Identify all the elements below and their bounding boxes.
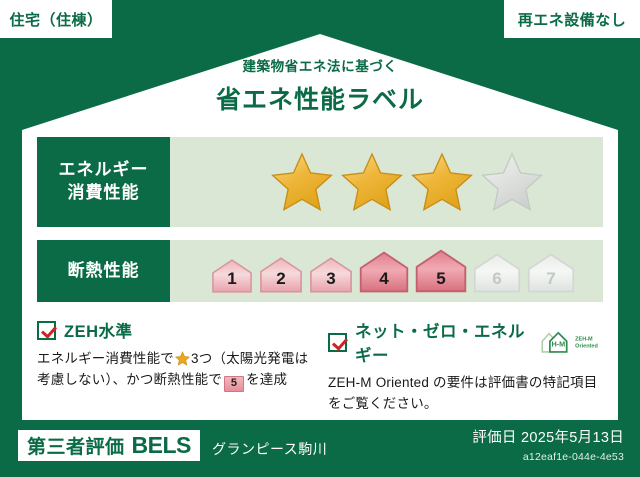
note-zeh-title: ZEH水準 — [64, 318, 133, 342]
tag-building-type: 住宅（住棟） — [0, 0, 112, 38]
star-rating — [270, 151, 544, 213]
svg-text:H-M: H-M — [551, 340, 565, 349]
insulation-level-7: 7 — [526, 252, 576, 294]
note-zeh-header: ZEH水準 — [37, 318, 312, 342]
insulation-level-4: 4 — [358, 250, 410, 294]
bels-energy-label: 住宅（住棟） 再エネ設備なし 建築物省エネ法に基づく 省エネ性能ラベル エネルギ… — [0, 0, 640, 477]
evaluation-info: 評価日 2025年5月13日 a12eaf1e-044e-4e53 — [472, 426, 624, 463]
note-zeh-standard: ZEH水準 エネルギー消費性能で3つ（太陽光発電は考慮しない）、かつ断熱性能で5… — [37, 318, 312, 415]
evaluation-date: 評価日 2025年5月13日 — [472, 426, 624, 447]
inline-star-icon — [175, 351, 190, 366]
evaluation-id: a12eaf1e-044e-4e53 — [472, 451, 624, 463]
bels-badge: 第三者評価 BELS — [18, 430, 200, 461]
insulation-level-number: 7 — [526, 269, 576, 289]
insulation-level-number: 2 — [258, 269, 304, 289]
zeh-m-caption: ZEH-M Oriented — [575, 333, 603, 351]
note-nze-body: ZEH-M Oriented の要件は評価書の特記項目をご覧ください。 — [328, 373, 603, 415]
energy-performance-label: エネルギー 消費性能 — [37, 137, 170, 227]
note-net-zero-energy: ネット・ゼロ・エネルギー H-M ZEH-M Oriented ZEH-M Or… — [328, 318, 603, 415]
checkbox-checked-icon — [328, 333, 347, 352]
note-zeh-text-3: を達成 — [246, 372, 287, 387]
insulation-label-text: 断熱性能 — [68, 260, 140, 283]
insulation-performance-body: 1234567 — [170, 240, 603, 302]
insulation-level-2: 2 — [258, 256, 304, 294]
insulation-level-5: 5 — [414, 248, 468, 294]
insulation-level-number: 5 — [414, 269, 468, 289]
note-nze-title: ネット・ゼロ・エネルギー — [355, 318, 526, 366]
checkbox-checked-icon — [37, 321, 56, 340]
insulation-level-6: 6 — [472, 252, 522, 294]
zeh-m-caption-line1: ZEH-M — [575, 337, 593, 343]
inline-level-badge: 5 — [224, 376, 244, 392]
insulation-level-number: 6 — [472, 269, 522, 289]
title-subtitle: 建築物省エネ法に基づく — [0, 55, 640, 75]
insulation-level-number: 4 — [358, 269, 410, 289]
label-title: 建築物省エネ法に基づく 省エネ性能ラベル — [0, 55, 640, 116]
star-filled-icon — [340, 151, 404, 213]
tag-renewable-equipment: 再エネ設備なし — [504, 0, 640, 38]
star-filled-icon — [270, 151, 334, 213]
insulation-performance-label: 断熱性能 — [37, 240, 170, 302]
energy-performance-row: エネルギー 消費性能 — [37, 137, 603, 227]
note-nze-header: ネット・ゼロ・エネルギー H-M ZEH-M Oriented — [328, 318, 603, 366]
label-footer: 第三者評価 BELS グランピース駒川 評価日 2025年5月13日 a12ea… — [0, 420, 640, 477]
insulation-performance-row: 断熱性能 1234567 — [37, 240, 603, 302]
energy-label-line2: 消費性能 — [68, 182, 140, 205]
bels-jp-text: 第三者評価 — [27, 432, 125, 459]
energy-performance-body — [170, 137, 603, 227]
star-filled-icon — [410, 151, 474, 213]
energy-label-line1: エネルギー — [59, 159, 149, 182]
insulation-level-1: 1 — [210, 258, 254, 294]
building-name: グランピース駒川 — [212, 439, 327, 459]
note-zeh-text-1: エネルギー消費性能で — [37, 351, 174, 366]
note-zeh-body: エネルギー消費性能で3つ（太陽光発電は考慮しない）、かつ断熱性能で5を達成 — [37, 349, 312, 392]
star-empty-icon — [480, 151, 544, 213]
zeh-m-oriented-logo: H-M ZEH-M Oriented — [539, 329, 603, 355]
insulation-level-3: 3 — [308, 256, 354, 294]
insulation-level-scale: 1234567 — [210, 248, 576, 294]
insulation-level-number: 1 — [210, 269, 254, 289]
title-main: 省エネ性能ラベル — [0, 80, 640, 116]
bels-en-text: BELS — [132, 432, 191, 459]
insulation-level-number: 3 — [308, 269, 354, 289]
zeh-m-caption-line2: Oriented — [575, 344, 598, 350]
notes-section: ZEH水準 エネルギー消費性能で3つ（太陽光発電は考慮しない）、かつ断熱性能で5… — [37, 318, 603, 415]
zeh-m-house-icon: H-M — [539, 329, 573, 355]
